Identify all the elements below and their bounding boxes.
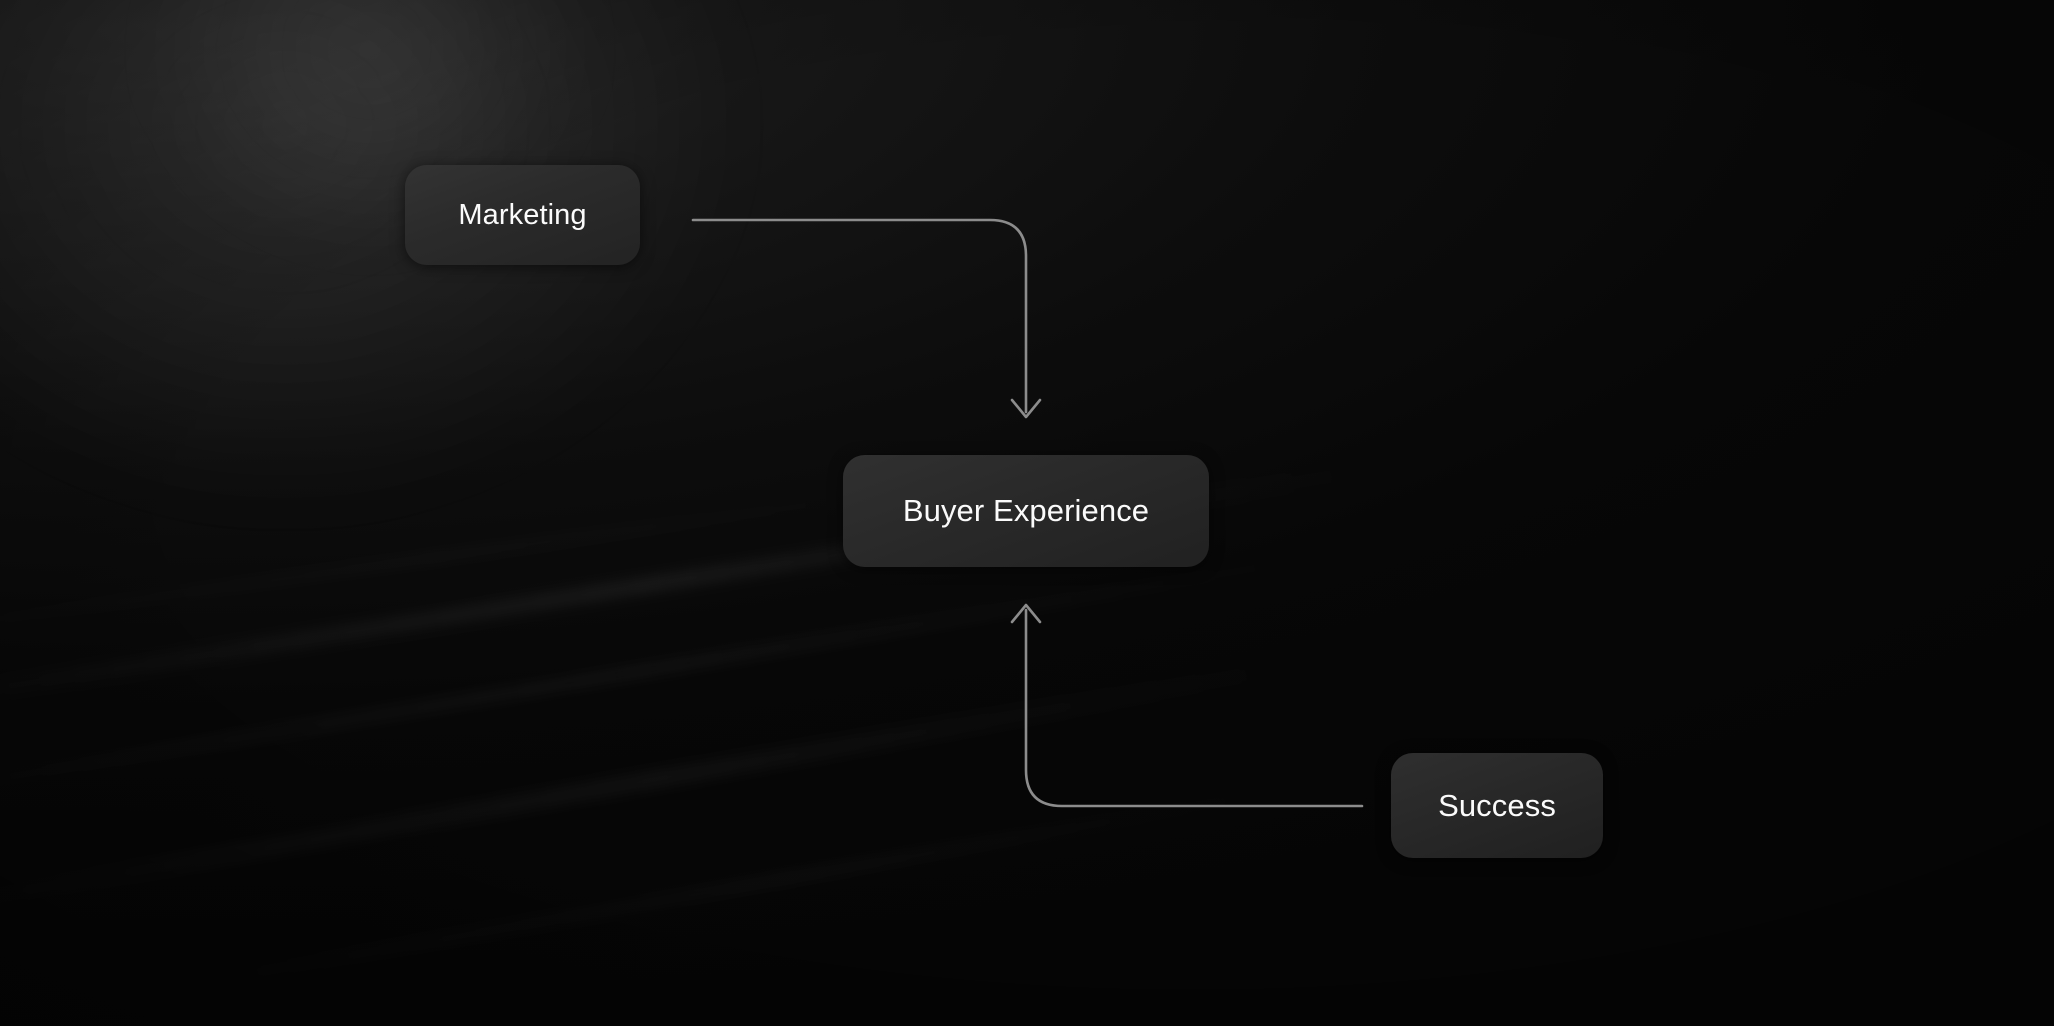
node-buyer-experience[interactable]: Buyer Experience [843, 455, 1209, 567]
edge-path [693, 220, 1026, 412]
edge-path [1026, 610, 1362, 806]
edge-marketing-to-buyer[interactable] [693, 220, 1040, 417]
node-success-label: Success [1438, 788, 1556, 824]
node-marketing[interactable]: Marketing [405, 165, 640, 265]
flow-diagram-canvas: Marketing Buyer Experience Success [0, 0, 2054, 1026]
edge-success-to-buyer[interactable] [1012, 605, 1362, 806]
node-success[interactable]: Success [1391, 753, 1603, 858]
node-marketing-label: Marketing [458, 199, 586, 232]
node-buyer-experience-label: Buyer Experience [903, 493, 1149, 529]
